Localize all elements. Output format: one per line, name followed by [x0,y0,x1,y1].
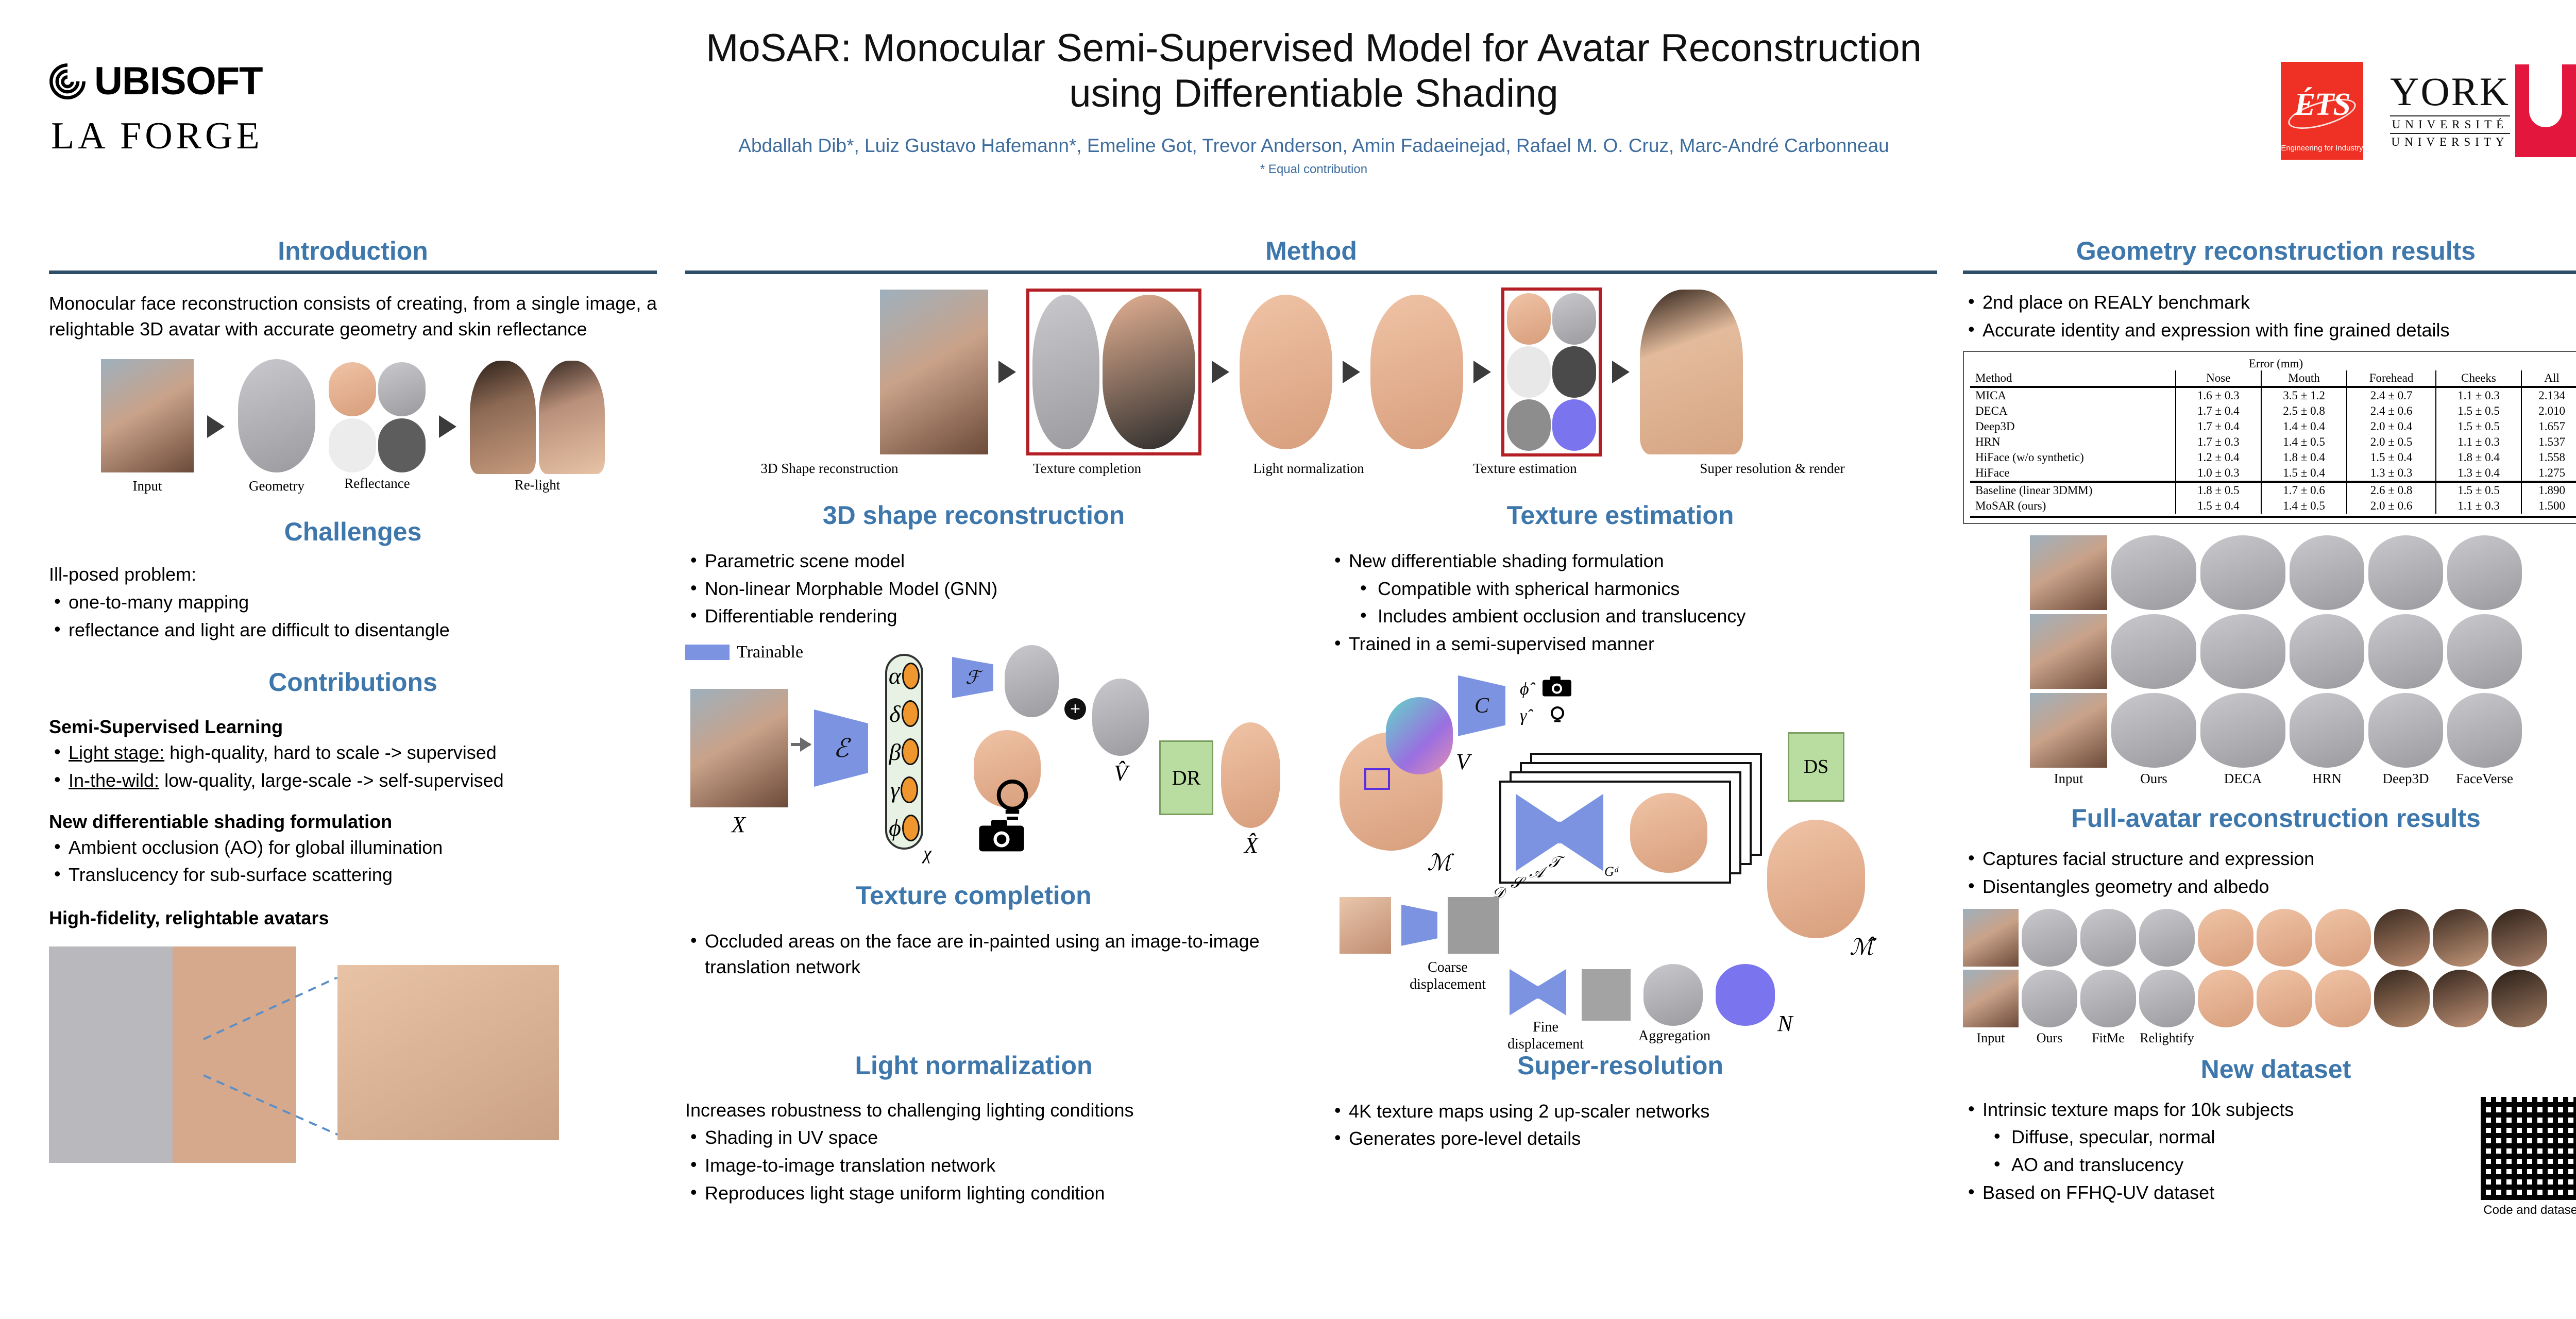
table-row: MICA 1.6 ± 0.3 3.5 ± 1.2 2.4 ± 0.7 1.1 ±… [1970,387,2576,403]
contributions-group3-title: High-fidelity, relightable avatars [49,907,657,929]
map-a-label: 𝒜 [1529,864,1544,882]
cell-nose: 1.7 ± 0.4 [2176,419,2261,434]
table-row: HRN 1.7 ± 0.3 1.4 ± 0.5 2.0 ± 0.5 1.1 ± … [1970,434,2576,450]
cell-mouth: 1.7 ± 0.6 [2261,482,2347,498]
geo-deep3d-3 [2368,693,2443,768]
cell-mouth: 1.5 ± 0.4 [2261,465,2347,482]
ets-tagline: Engineering for Industry [2281,144,2363,153]
avatar-relit-b1 [2374,909,2430,967]
contributions-group1-list: Light stage: high-quality, hard to scale… [49,740,657,793]
list-item: Differentiable rendering [685,603,1262,629]
cell-mouth: 1.4 ± 0.4 [2261,419,2347,434]
avatar-relit-d3 [2492,970,2547,1027]
avatar-relit-d1 [2374,970,2430,1027]
list-item: 2nd place on REALY benchmark [1963,290,2576,315]
texture-final-avatar [1767,820,1865,938]
cell-method: HRN [1970,434,2176,450]
geo-input-2 [2030,614,2107,689]
pipeline-normalized-texture [1370,295,1463,449]
ubisoft-la-forge-logo: UBISOFT LA FORGE [49,62,379,158]
cell-all: 1.558 [2521,450,2576,465]
cell-method: Baseline (linear 3DMM) [1970,482,2176,498]
list-item: Parametric scene model [685,548,1262,574]
param-beta-label: β [889,738,901,766]
avatar-relit-c2 [2257,970,2312,1027]
geo-input-3 [2030,693,2107,768]
geometry-grid [1963,535,2576,768]
texture-deferred-shader: DS [1788,732,1844,802]
avatar-grid [1963,909,2576,1027]
list-item: one-to-many mapping [49,589,657,615]
ets-wordmark: ÉTS [2281,87,2363,123]
texture-mesh-label: ℳ [1427,850,1451,876]
list-item: Includes ambient occlusion and transluce… [1329,603,1911,629]
trainable-legend-label: Trainable [737,642,803,662]
param-beta-dot-icon [902,738,919,765]
texture-output-label: ℳ̂ [1850,934,1874,960]
zoom-callout-lines [198,977,353,1142]
lightbulb-icon [1545,702,1570,728]
reflectance-specular-map [329,418,376,472]
geo-ours-1 [2111,535,2196,610]
cell-all: 1.537 [2521,434,2576,450]
shape-gnn-label: ℱ [965,667,980,688]
dataset-heading: New dataset [1963,1055,2576,1084]
list-item: Reproduces light stage uniform lighting … [685,1180,1262,1206]
list-item: Captures facial structure and expression [1963,846,2576,872]
shape-encoder-block: ℰ [814,709,868,787]
shape-input-photo [690,689,788,807]
avatar-input-2 [1963,970,2019,1027]
geo-deep3d-2 [2368,614,2443,689]
avatar-input-1 [1963,909,2019,967]
avatar-relightify-2 [2139,970,2195,1027]
texture-phi-hat-label: ϕ̂ [1520,680,1529,699]
cell-cheeks: 1.5 ± 0.5 [2436,403,2521,419]
right-column: Geometry reconstruction results 2nd plac… [1963,237,2576,1205]
texture-completion-list: Occluded areas on the face are in-painte… [685,928,1262,979]
left-column: Introduction Monocular face reconstructi… [49,237,657,1168]
col-cheeks: Cheeks [2436,370,2521,387]
param-delta-dot-icon [902,700,919,727]
col-mouth: Mouth [2261,370,2347,387]
results-table-wrapper: Error (mm) Method Nose Mouth Forehead Ch… [1963,351,2576,524]
table-row: DECA 1.7 ± 0.4 2.5 ± 0.8 2.4 ± 0.6 1.5 ±… [1970,403,2576,419]
cell-all: 1.890 [2521,482,2576,498]
title-line-2: using Differentiable Shading [567,71,2061,116]
col-nose: Nose [2176,370,2261,387]
cell-nose: 1.5 ± 0.4 [2176,498,2261,514]
geo-hrn-1 [2290,535,2364,610]
cell-cheeks: 1.5 ± 0.5 [2436,482,2521,498]
relight-image-2 [539,361,605,474]
reflectance-ao-map [378,418,426,472]
cell-cheeks: 1.8 ± 0.4 [2436,450,2521,465]
col-forehead: Forehead [2347,370,2436,387]
avatar-fitme-1 [2080,909,2136,967]
intro-caption-relight: Re-light [470,477,605,493]
cell-all: 1.500 [2521,498,2576,514]
in-the-wild-rest: low-quality, large-scale -> self-supervi… [159,770,504,791]
param-delta-label: δ [889,700,900,728]
relight-image-1 [470,361,536,474]
list-item: 4K texture maps using 2 up-scaler networ… [1329,1098,1911,1124]
table-super-header: Error (mm) [1970,357,2576,370]
pipeline-caption-shape: 3D Shape reconstruction [685,461,974,477]
qr-block[interactable]: Code and dataset [2481,1097,2576,1217]
cell-method: MICA [1970,387,2176,403]
contributions-heading: Contributions [49,668,657,697]
cell-mouth: 1.4 ± 0.5 [2261,498,2347,514]
shape-input-label: X [732,811,745,838]
cell-nose: 1.6 ± 0.3 [2176,387,2261,403]
pipeline-texture-maps [1501,288,1602,456]
ets-logo: ÉTS Engineering for Industry [2281,62,2363,160]
pipeline-partial-texture [1103,295,1195,449]
geo-ours-3 [2111,693,2196,768]
cell-all: 1.275 [2521,465,2576,482]
geo-ours-2 [2111,614,2196,689]
texture-zoom-roi-box [1364,768,1390,790]
coarse-displacement-map [1448,897,1499,954]
light-stage-rest: high-quality, hard to scale -> supervise… [164,742,497,763]
ubisoft-swirl-icon [49,63,86,100]
avatar-caption-fitme: FitMe [2080,1030,2136,1046]
york-sub-en: UNIVERSITY [2390,134,2510,149]
super-resolution-list: 4K texture maps using 2 up-scaler networ… [1329,1098,1911,1152]
introduction-heading: Introduction [49,237,657,265]
title-block: MoSAR: Monocular Semi-Supervised Model f… [567,26,2061,177]
list-item: Intrinsic texture maps for 10k subjects [1963,1097,2406,1123]
fine-displacement-map [1582,969,1631,1021]
avatar-ours-2 [2022,970,2077,1027]
texture-map-normal [1552,293,1596,345]
shape-encoder-label: ℰ [833,733,849,763]
texture-estimation-subsection: Texture estimation New differentiable sh… [1329,501,1911,1031]
avatar-relit-a2 [2257,909,2312,967]
table-row: Deep3D 1.7 ± 0.4 1.4 ± 0.4 2.0 ± 0.4 1.5… [1970,419,2576,434]
fine-displacement-label: Fine displacement [1499,1019,1592,1053]
geometry-qualitative-figure: Input Ours DECA HRN Deep3D FaceVerse [1963,535,2576,787]
pipeline-input-photo [880,290,988,454]
pipeline-arrow-1-icon [998,361,1016,383]
light-normalization-subsection: Light normalization Increases robustness… [685,1052,1262,1206]
york-sub-fr: UNIVERSITÉ [2390,115,2510,134]
middle-column: Method [685,237,1937,1206]
fine-displacement-net [1510,969,1566,1016]
pipeline-caption-completion: Texture completion [974,461,1200,477]
coarse-displacement-net [1401,905,1437,946]
cell-method: DECA [1970,403,2176,419]
texture-estimation-heading: Texture estimation [1329,501,1911,530]
normal-map-output [1716,964,1775,1026]
light-normalization-lead: Increases robustness to challenging ligh… [685,1097,1262,1123]
coarse-displacement-label: Coarse displacement [1396,959,1499,993]
shape-param-list: α δ β γ ϕ [887,658,921,845]
avatar-relit-c1 [2198,970,2253,1027]
table-row: HiFace 1.0 ± 0.3 1.5 ± 0.4 1.3 ± 0.3 1.3… [1970,465,2576,482]
york-wordmark: YORK [2390,73,2510,111]
shape-arrow-in-icon [791,743,810,746]
list-item: Occluded areas on the face are in-painte… [685,928,1262,979]
geo-hrn-2 [2290,614,2364,689]
geometry-results-heading: Geometry reconstruction results [1963,237,2576,265]
avatar-results-heading: Full-avatar reconstruction results [1963,804,2576,833]
method-heading: Method [685,237,1937,265]
cell-forehead: 1.5 ± 0.4 [2347,450,2436,465]
geo-caption-ours: Ours [2111,771,2196,787]
cell-mouth: 1.8 ± 0.4 [2261,450,2347,465]
york-u-icon [2515,64,2576,157]
poster-root: UBISOFT LA FORGE MoSAR: Monocular Semi-S… [0,0,2576,1319]
la-forge-wordmark: LA FORGE [51,114,379,158]
shape-diagram: Trainable X ℰ α δ β γ ϕ [685,642,1262,864]
map-s-label: 𝒮 [1511,874,1522,892]
pipeline-caption-row: 3D Shape reconstruction Texture completi… [685,461,1937,477]
cell-forehead: 2.0 ± 0.4 [2347,419,2436,434]
cell-mouth: 2.5 ± 0.8 [2261,403,2347,419]
param-gamma-dot-icon [901,776,918,803]
cell-method: Deep3D [1970,419,2176,434]
param-phi-dot-icon [902,815,920,841]
texture-generator-label: Gᵈ [1604,864,1618,880]
list-item: AO and translucency [1963,1152,2406,1178]
col-all: All [2521,370,2576,387]
shape-rendered-output [1221,722,1280,828]
title-line-1: MoSAR: Monocular Semi-Supervised Model f… [567,26,2061,71]
cell-nose: 1.0 ± 0.3 [2176,465,2261,482]
texture-view-sphere [1386,697,1453,774]
aggregation-label: Aggregation [1623,1028,1726,1044]
pipeline-caption-superres: Super resolution & render [1633,461,1911,477]
param-alpha-dot-icon [902,663,920,689]
geo-faceverse-2 [2447,614,2522,689]
cell-forehead: 2.6 ± 0.8 [2347,482,2436,498]
qr-caption: Code and dataset [2481,1203,2576,1217]
avatar-relit-a3 [2315,909,2371,967]
cell-forehead: 2.0 ± 0.5 [2347,434,2436,450]
cell-method: HiFace (w/o synthetic) [1970,450,2176,465]
shape-heading: 3D shape reconstruction [685,501,1262,530]
intro-geometry-image [238,359,315,472]
pipeline-shape-mesh [1032,295,1099,449]
shape-combined-mesh [1092,679,1149,756]
trainable-swatch-icon [685,645,730,660]
list-item: Image-to-image translation network [685,1153,1262,1178]
method-bottom-subsections: Light normalization Increases robustness… [685,1052,1937,1206]
cell-forehead: 2.4 ± 0.6 [2347,403,2436,419]
texture-map-specular [1507,346,1551,398]
param-alpha-label: α [889,662,901,689]
table-row: Baseline (linear 3DMM) 1.8 ± 0.5 1.7 ± 0… [1970,482,2576,498]
col-method: Method [1970,370,2176,387]
cell-cheeks: 1.3 ± 0.4 [2436,465,2521,482]
texture-estimation-list: New differentiable shading formulation C… [1329,548,1911,657]
avatar-results-list: Captures facial structure and expression… [1963,846,2576,899]
shape-param-set-label: χ [923,842,931,864]
challenges-lead: Ill-posed problem: [49,562,657,587]
texture-map-rough [1507,399,1551,451]
shape-differentiable-renderer: DR [1159,740,1213,815]
reflectance-diffuse-map [329,362,376,416]
dataset-list: Intrinsic texture maps for 10k subjects … [1963,1097,2406,1206]
cell-nose: 1.7 ± 0.4 [2176,403,2261,419]
geometry-error-table: Method Nose Mouth Forehead Cheeks All MI… [1970,370,2576,514]
avatar-grid-captions: Input Ours FitMe Relightify [1963,1030,2576,1046]
introduction-rule [49,270,657,274]
reflectance-normal-map [378,362,426,416]
cell-all: 2.134 [2521,387,2576,403]
list-item: Diffuse, specular, normal [1963,1124,2406,1150]
in-the-wild-term: In-the-wild: [69,770,159,791]
table-row: MoSAR (ours) 1.5 ± 0.4 1.4 ± 0.5 2.0 ± 0… [1970,498,2576,514]
geometry-results-rule [1963,270,2576,274]
avatar-qualitative-figure: Input Ours FitMe Relightify [1963,909,2576,1046]
camera-icon [977,818,1026,854]
ubisoft-wordmark: UBISOFT [94,62,263,101]
dataset-body: Intrinsic texture maps for 10k subjects … [1963,1097,2576,1206]
geometry-results-list: 2nd place on REALY benchmark Accurate id… [1963,290,2576,343]
list-item: Light stage: high-quality, hard to scale… [49,740,657,766]
list-item: Compatible with spherical harmonics [1329,576,1911,602]
method-rule [685,270,1937,274]
geo-caption-deca: DECA [2200,771,2285,787]
method-subsections: 3D shape reconstruction Parametric scene… [685,501,1937,1031]
pipeline-caption-lightnorm: Light normalization [1200,461,1417,477]
challenges-list: one-to-many mapping reflectance and ligh… [49,589,657,642]
intro-relight-images [470,361,605,474]
shape-identity-mesh [1005,645,1059,717]
challenges-heading: Challenges [49,518,657,546]
avatar-relit-d2 [2433,970,2488,1027]
cell-forehead: 1.3 ± 0.3 [2347,465,2436,482]
table-row: HiFace (w/o synthetic) 1.2 ± 0.4 1.8 ± 0… [1970,450,2576,465]
geo-deca-3 [2200,693,2285,768]
shape-list: Parametric scene model Non-linear Morpha… [685,548,1262,629]
list-item: Based on FFHQ-UV dataset [1963,1180,2406,1206]
table-header-row: Method Nose Mouth Forehead Cheeks All [1970,370,2576,387]
normals-label: Ν [1777,1010,1792,1037]
author-list: Abdallah Dib*, Luiz Gustavo Hafemann*, E… [567,134,2061,158]
geo-hrn-3 [2290,693,2364,768]
geo-faceverse-3 [2447,693,2522,768]
aggregated-displacement [1643,964,1703,1026]
texture-generated-map [1630,793,1707,873]
shape-gnn-block: ℱ [952,657,993,698]
cell-nose: 1.7 ± 0.3 [2176,434,2261,450]
avatar-relit-a1 [2198,909,2253,967]
list-item: Shading in UV space [685,1125,1262,1151]
introduction-body: Monocular face reconstruction consists o… [49,291,657,342]
trainable-legend: Trainable [685,642,803,662]
list-item: Translucency for sub-surface scattering [49,862,657,888]
pipeline-arrow-2-icon [1212,361,1229,383]
york-university-logo: YORK UNIVERSITÉ UNIVERSITY [2390,64,2576,157]
geo-deca-2 [2200,614,2285,689]
avatar-fitme-2 [2080,970,2136,1027]
intro-reflectance-maps [329,362,426,472]
pipeline-caption-texture: Texture estimation [1417,461,1633,477]
texture-map-translucency [1552,399,1596,451]
texture-estimation-diagram: ℳ V C ϕ̂ γ̂ [1329,670,1911,1031]
shape-output-label: X̂ [1244,832,1258,858]
cell-method: MoSAR (ours) [1970,498,2176,514]
institution-logos: ÉTS Engineering for Industry YORK UNIVER… [2281,62,2576,160]
texture-gamma-hat-label: γ̂ [1520,706,1527,726]
contributions-group1-title: Semi-Supervised Learning [49,716,657,738]
light-normalization-heading: Light normalization [685,1052,1262,1080]
intro-arrow-2-icon [439,415,456,438]
list-item: In-the-wild: low-quality, large-scale ->… [49,768,657,793]
intro-caption-geometry: Geometry [238,478,315,494]
cell-nose: 1.8 ± 0.5 [2176,482,2261,498]
avatar-caption-input: Input [1963,1030,2019,1046]
list-item: Accurate identity and expression with fi… [1963,317,2576,343]
geo-faceverse-1 [2447,535,2522,610]
cell-forehead: 2.0 ± 0.6 [2347,498,2436,514]
cell-all: 1.657 [2521,419,2576,434]
avatar-caption-ours: Ours [2022,1030,2077,1046]
equal-contribution-note: * Equal contribution [567,162,2061,177]
map-t-label: 𝒯 [1549,854,1561,871]
list-item: reflectance and light are difficult to d… [49,617,657,643]
avatar-ours-1 [2022,909,2077,967]
camera-icon [1541,674,1572,698]
light-normalization-list: Shading in UV space Image-to-image trans… [685,1125,1262,1206]
geo-caption-hrn: HRN [2290,771,2364,787]
geo-caption-deep3d: Deep3D [2368,771,2443,787]
cell-mouth: 1.4 ± 0.5 [2261,434,2347,450]
geo-caption-faceverse: FaceVerse [2447,771,2522,787]
super-resolution-subsection: Super-resolution 4K texture maps using 2… [1329,1052,1911,1206]
cell-method: HiFace [1970,465,2176,482]
cell-cheeks: 1.1 ± 0.3 [2436,387,2521,403]
shape-subsection: 3D shape reconstruction Parametric scene… [685,501,1262,1031]
shape-vertices-label: V̂ [1114,760,1128,786]
pipeline-final-render [1640,290,1743,454]
intro-input-image [101,359,194,472]
contributions-group2-title: New differentiable shading formulation [49,811,657,833]
shape-sum-operator-icon: + [1064,698,1086,720]
texture-map-stack: Gᵈ 𝒟 𝒮 𝒜 𝒯 [1499,753,1767,882]
displacement-input-patch [1340,897,1391,954]
cell-cheeks: 1.5 ± 0.5 [2436,419,2521,434]
avatar-skin-closeup [337,965,559,1140]
cell-mouth: 3.5 ± 1.2 [2261,387,2347,403]
geo-input-1 [2030,535,2107,610]
pipeline-arrow-5-icon [1612,361,1630,383]
geometry-grid-captions: Input Ours DECA HRN Deep3D FaceVerse [1963,771,2576,787]
light-stage-term: Light stage: [69,742,164,763]
texture-map-ao [1552,346,1596,398]
introduction-figure: Input Geometry Reflectance [49,359,657,494]
param-gamma-label: γ [890,776,900,803]
cell-cheeks: 1.1 ± 0.3 [2436,498,2521,514]
cell-cheeks: 1.1 ± 0.3 [2436,434,2521,450]
avatar-relit-c3 [2315,970,2371,1027]
list-item: Ambient occlusion (AO) for global illumi… [49,835,657,860]
texture-encoder-c: C [1458,675,1505,736]
page-title: MoSAR: Monocular Semi-Supervised Model f… [567,26,2061,116]
pipeline-completed-texture [1240,295,1332,449]
qr-code-icon[interactable] [2481,1097,2576,1200]
geo-caption-input: Input [2030,771,2107,787]
cell-all: 2.010 [2521,403,2576,419]
texture-encoder-c-label: C [1475,694,1489,718]
list-item: New differentiable shading formulation [1329,548,1911,574]
geo-deca-1 [2200,535,2285,610]
texture-map-diffuse [1507,293,1551,345]
